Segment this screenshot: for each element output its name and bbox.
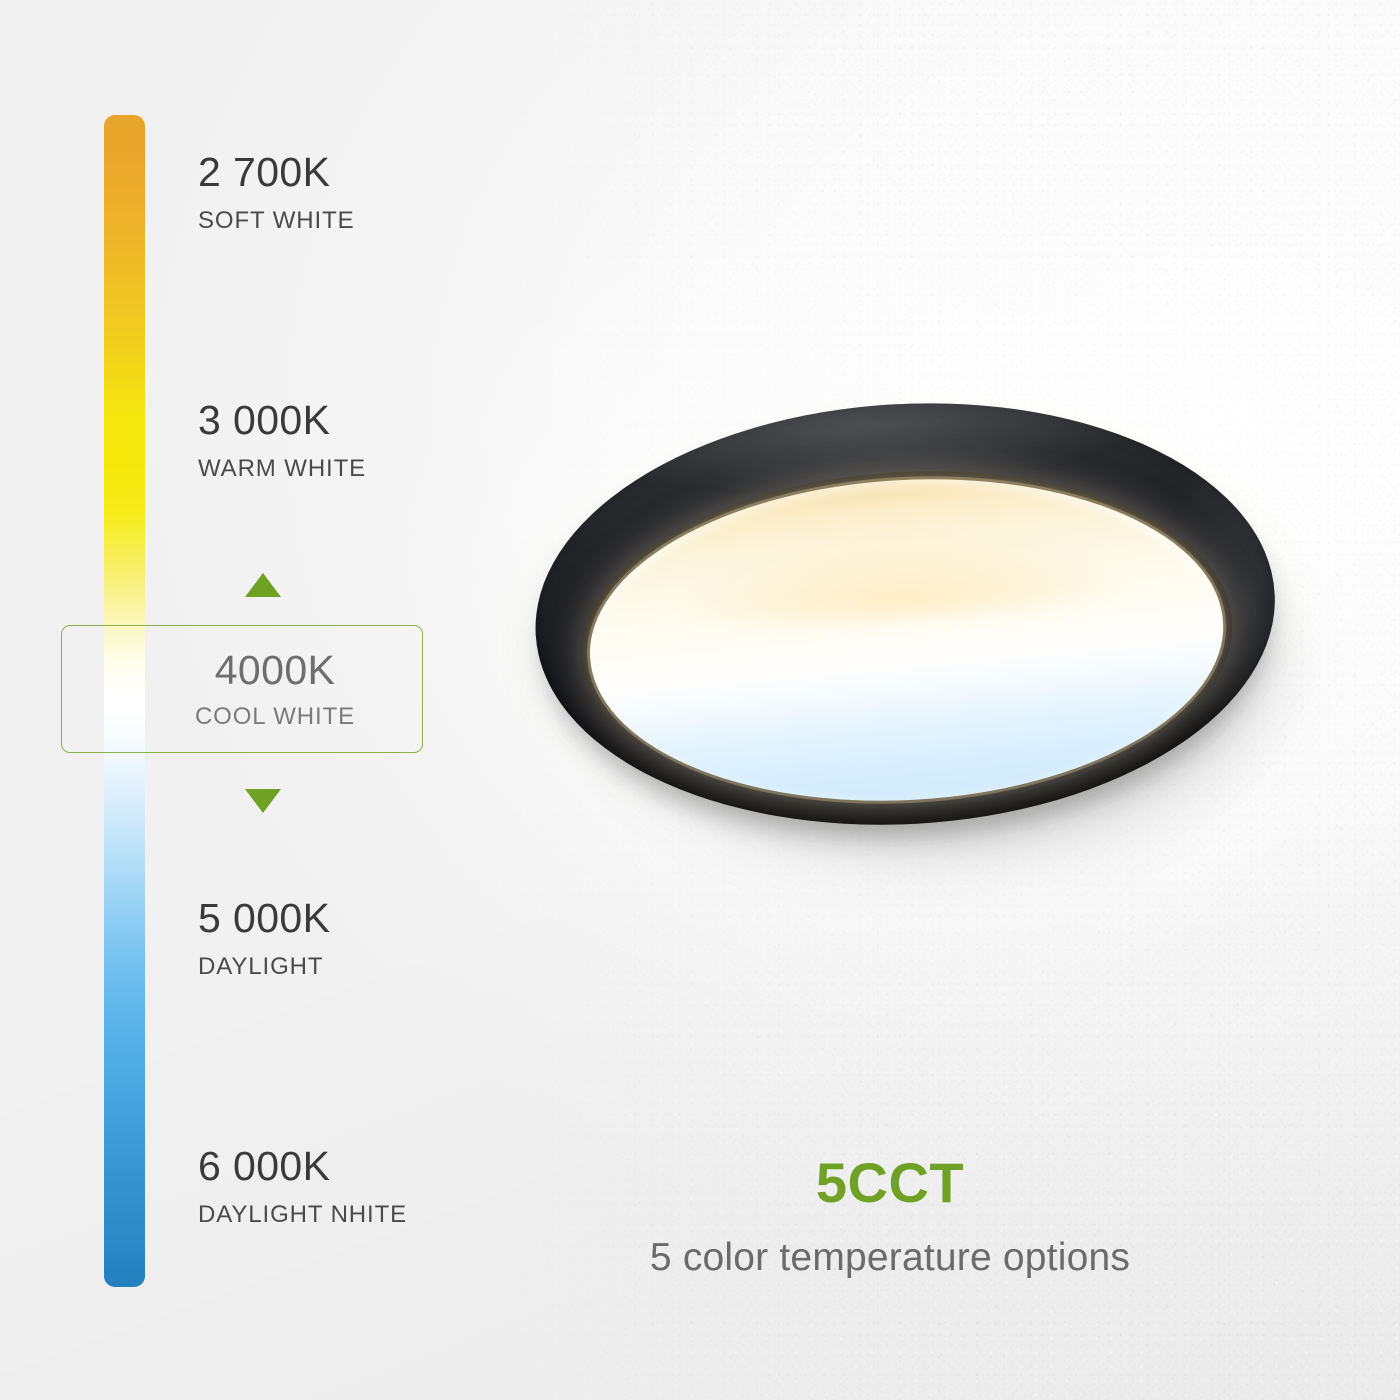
cct-stop-5000k: 5 000K DAYLIGHT [198,898,330,979]
cct-stop-2700k: 2 700K SOFT WHITE [198,152,355,233]
cct-stop-3000k: 3 000K WARM WHITE [198,400,366,481]
product-feature-graphic: 2 700K SOFT WHITE 3 000K WARM WHITE 4000… [0,0,1400,1400]
round-ceiling-light-icon [524,384,1288,875]
cct-stop-6000k: 6 000K DAYLIGHT NHITE [198,1146,407,1227]
cct-stop-label: DAYLIGHT [198,955,330,979]
caption-block: 5CCT 5 color temperature options [600,1155,1180,1277]
cct-stop-temp: 6 000K [198,1146,407,1187]
triangle-down-icon[interactable] [245,789,281,813]
cct-stop-label: SOFT WHITE [198,209,355,233]
cct-stop-temp: 3 000K [198,400,366,441]
cct-stop-temp: 5 000K [198,898,330,939]
caption-subtitle: 5 color temperature options [600,1238,1180,1277]
cct-stop-label: WARM WHITE [198,457,366,481]
triangle-up-icon[interactable] [245,573,281,597]
cct-selected-card[interactable]: 4000K COOL WHITE [61,625,423,753]
caption-title: 5CCT [600,1155,1180,1211]
cct-selected-label: COOL WHITE [195,705,355,729]
cct-stop-temp: 2 700K [198,152,355,193]
cct-selected-temp: 4000K [215,650,336,691]
cct-stop-label: DAYLIGHT NHITE [198,1203,407,1227]
